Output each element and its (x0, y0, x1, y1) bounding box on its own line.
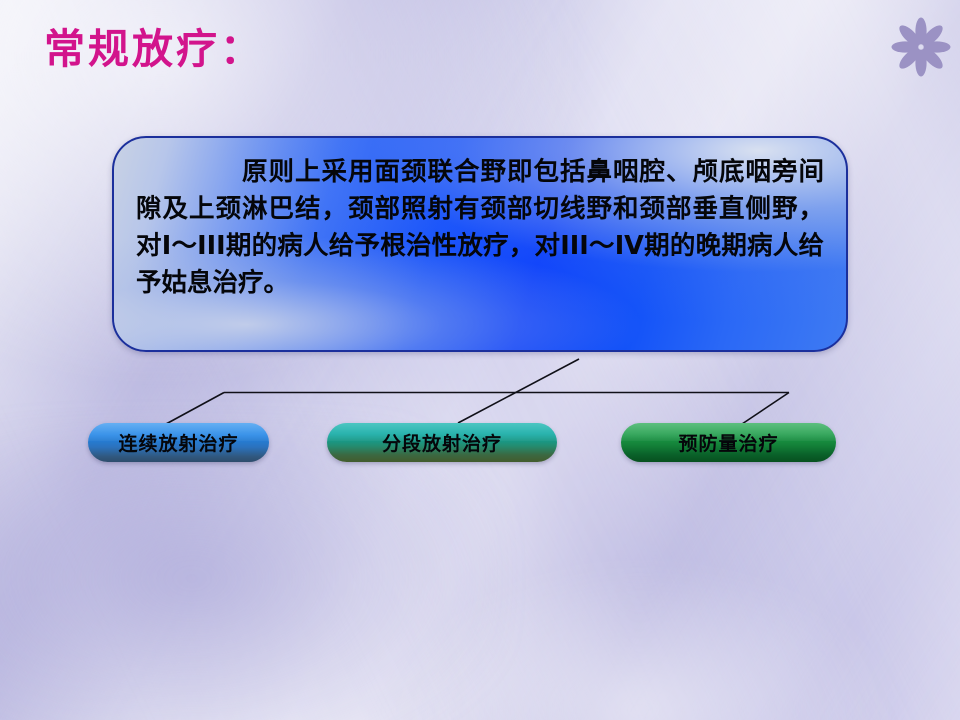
main-callout-box: 原则上采用面颈联合野即包括鼻咽腔、颅底咽旁间隙及上颈淋巴结，颈部照射有颈部切线野… (112, 136, 848, 352)
slide-canvas: 常规放疗： 原则上采用面颈联合野即包括鼻咽腔、颅底咽旁间隙及上颈淋巴结，颈部照射… (0, 0, 960, 720)
callout-paragraph: 原则上采用面颈联合野即包括鼻咽腔、颅底咽旁间隙及上颈淋巴结，颈部照射有颈部切线野… (114, 138, 846, 302)
branch-pill-split-course-radiotherapy[interactable]: 分段放射治疗 (327, 423, 557, 462)
branch-pill-prophylactic-dose-therapy[interactable]: 预防量治疗 (621, 423, 836, 462)
callout-body-text: 原则上采用面颈联合野即包括鼻咽腔、颅底咽旁间隙及上颈淋巴结，颈部照射有颈部切线野… (136, 157, 824, 298)
branch-pill-continuous-radiotherapy[interactable]: 连续放射治疗 (88, 423, 269, 462)
branch-label: 分段放射治疗 (382, 429, 502, 456)
flower-asterisk-icon (890, 16, 952, 78)
branch-label: 连续放射治疗 (118, 429, 238, 456)
branch-label: 预防量治疗 (678, 429, 778, 456)
background-shadow-bottom-left (0, 430, 500, 720)
slide-title: 常规放疗： (44, 25, 264, 74)
